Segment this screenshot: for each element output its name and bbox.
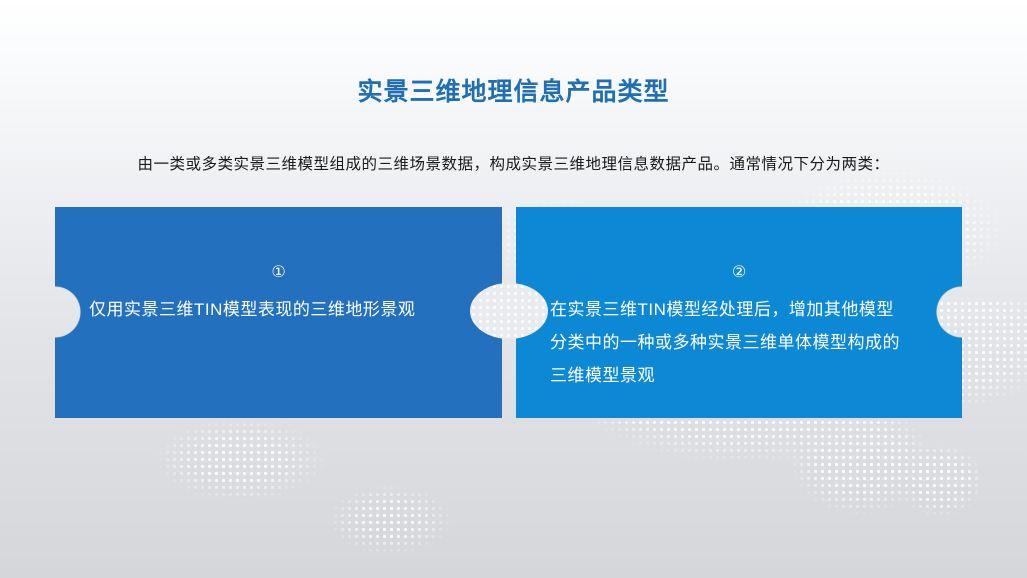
product-type-card-2[interactable]: ② 在实景三维TIN模型经处理后，增加其他模型分类中的一种或多种实景三维单体模型… bbox=[516, 207, 962, 418]
card-1-content: ① 仅用实景三维TIN模型表现的三维地形景观 bbox=[55, 207, 502, 418]
slide-canvas: 实景三维地理信息产品类型 由一类或多类实景三维模型组成的三维场景数据，构成实景三… bbox=[0, 0, 1027, 578]
card-2-description: 在实景三维TIN模型经处理后，增加其他模型分类中的一种或多种实景三维单体模型构成… bbox=[550, 293, 928, 392]
product-type-card-1[interactable]: ① 仅用实景三维TIN模型表现的三维地形景观 bbox=[55, 207, 502, 418]
card-2-number-badge: ② bbox=[550, 265, 928, 281]
card-connector-circle bbox=[470, 283, 548, 339]
card-1-number-badge: ① bbox=[89, 265, 468, 281]
page-title: 实景三维地理信息产品类型 bbox=[0, 72, 1027, 108]
world-map-texture-lower-left bbox=[150, 400, 480, 578]
intro-paragraph: 由一类或多类实景三维模型组成的三维场景数据，构成实景三维地理信息数据产品。通常情… bbox=[0, 152, 1027, 174]
card-1-description: 仅用实景三维TIN模型表现的三维地形景观 bbox=[89, 293, 468, 326]
card-2-content: ② 在实景三维TIN模型经处理后，增加其他模型分类中的一种或多种实景三维单体模型… bbox=[516, 207, 962, 418]
